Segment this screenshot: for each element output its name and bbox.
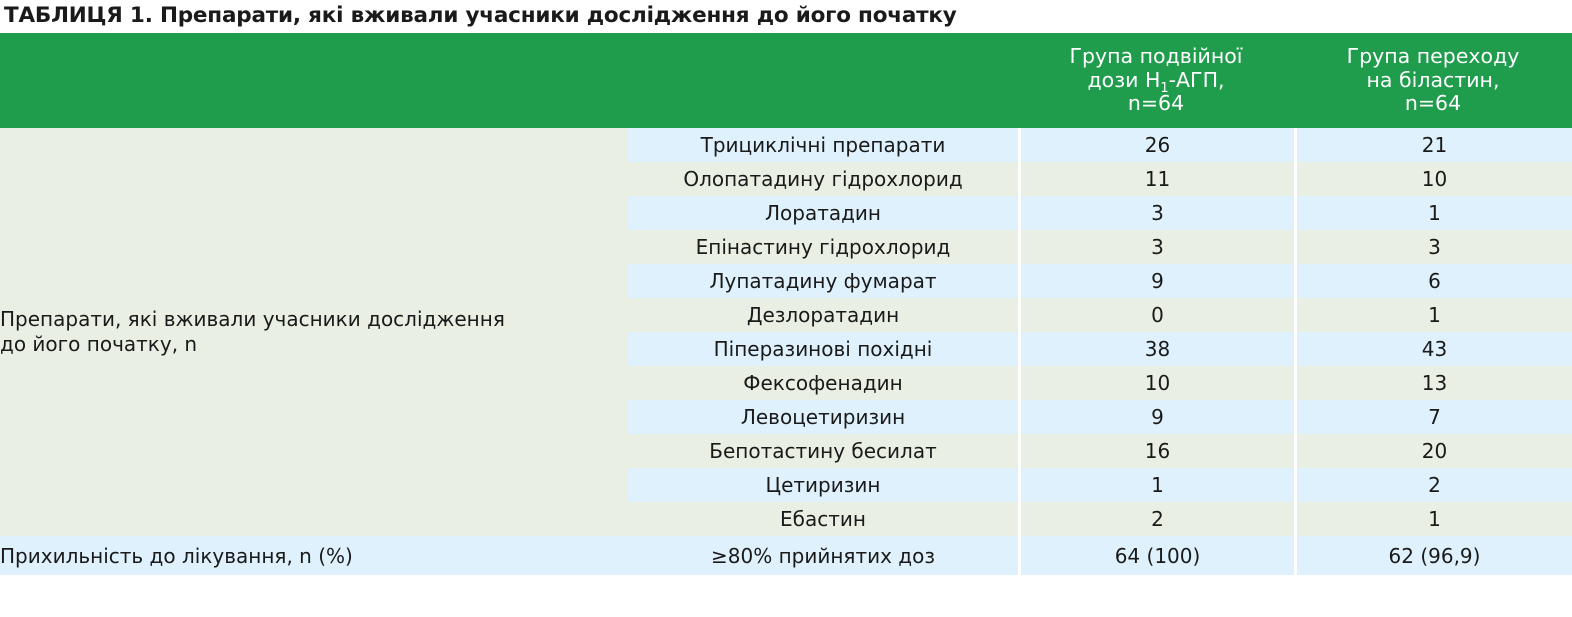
table-row: Препарати, які вживали учасники дослідже… (0, 128, 1572, 162)
group2-value: 10 (1294, 162, 1572, 196)
group1-value: 3 (1018, 230, 1294, 264)
group1-value: 9 (1018, 264, 1294, 298)
drug-name: Цетиризин (628, 468, 1018, 502)
drug-name: Лоратадин (628, 196, 1018, 230)
table-figure: ТАБЛИЦЯ 1. Препарати, які вживали учасни… (0, 0, 1572, 617)
group1-line2: дози H1-АГП, (1018, 69, 1294, 93)
adherence-group2-value: 62 (96,9) (1294, 536, 1572, 575)
section-label-line1: Препарати, які вживали учасники дослідже… (0, 307, 628, 332)
group1-value: 3 (1018, 196, 1294, 230)
group2-value: 2 (1294, 468, 1572, 502)
table-header-row: Група подвійної дози H1-АГП, n=64 Група … (0, 33, 1572, 128)
drug-name: Бепотастину бесилат (628, 434, 1018, 468)
group2-value: 1 (1294, 196, 1572, 230)
group1-value: 9 (1018, 400, 1294, 434)
group1-line2-post: -АГП, (1169, 68, 1225, 92)
drug-name: Епінастину гідрохлорид (628, 230, 1018, 264)
group1-value: 2 (1018, 502, 1294, 536)
group1-value: 1 (1018, 468, 1294, 502)
drug-name: Фексофенадин (628, 366, 1018, 400)
group1-value: 11 (1018, 162, 1294, 196)
section-label-line2: до його початку, n (0, 332, 628, 357)
column-header-group1: Група подвійної дози H1-АГП, n=64 (1018, 33, 1294, 128)
group2-line2: на біластин, (1294, 69, 1572, 93)
group2-value: 3 (1294, 230, 1572, 264)
drug-name: Левоцетиризин (628, 400, 1018, 434)
group2-value: 20 (1294, 434, 1572, 468)
group2-line3: n=64 (1294, 92, 1572, 116)
group1-value: 16 (1018, 434, 1294, 468)
drug-name: Дезлоратадин (628, 298, 1018, 332)
group2-value: 7 (1294, 400, 1572, 434)
group1-line2-pre: дози H (1087, 68, 1160, 92)
column-header-group2: Група переходу на біластин, n=64 (1294, 33, 1572, 128)
header-blank-cell (0, 33, 1018, 128)
group2-value: 1 (1294, 298, 1572, 332)
group2-value: 1 (1294, 502, 1572, 536)
group1-value: 10 (1018, 366, 1294, 400)
adherence-criterion: ≥80% прийнятих доз (628, 536, 1018, 575)
group2-value: 21 (1294, 128, 1572, 162)
page-title: ТАБЛИЦЯ 1. Препарати, які вживали учасни… (4, 1, 1564, 31)
group1-line1: Група подвійної (1018, 45, 1294, 69)
drug-name: Олопатадину гідрохлорид (628, 162, 1018, 196)
group2-value: 6 (1294, 264, 1572, 298)
data-table: Група подвійної дози H1-АГП, n=64 Група … (0, 33, 1572, 575)
group2-value: 43 (1294, 332, 1572, 366)
drug-name: Лупатадину фумарат (628, 264, 1018, 298)
group1-line3: n=64 (1018, 92, 1294, 116)
group1-value: 38 (1018, 332, 1294, 366)
adherence-row: Прихильність до лікування, n (%) ≥80% пр… (0, 536, 1572, 575)
group2-line1: Група переходу (1294, 45, 1572, 69)
adherence-label: Прихильність до лікування, n (%) (0, 536, 628, 575)
drug-name: Ебастин (628, 502, 1018, 536)
group2-value: 13 (1294, 366, 1572, 400)
group1-value: 26 (1018, 128, 1294, 162)
section-label-cell: Препарати, які вживали учасники дослідже… (0, 128, 628, 536)
group1-value: 0 (1018, 298, 1294, 332)
drug-name: Трициклічні препарати (628, 128, 1018, 162)
adherence-group1-value: 64 (100) (1018, 536, 1294, 575)
drug-name: Піперазинові похідні (628, 332, 1018, 366)
